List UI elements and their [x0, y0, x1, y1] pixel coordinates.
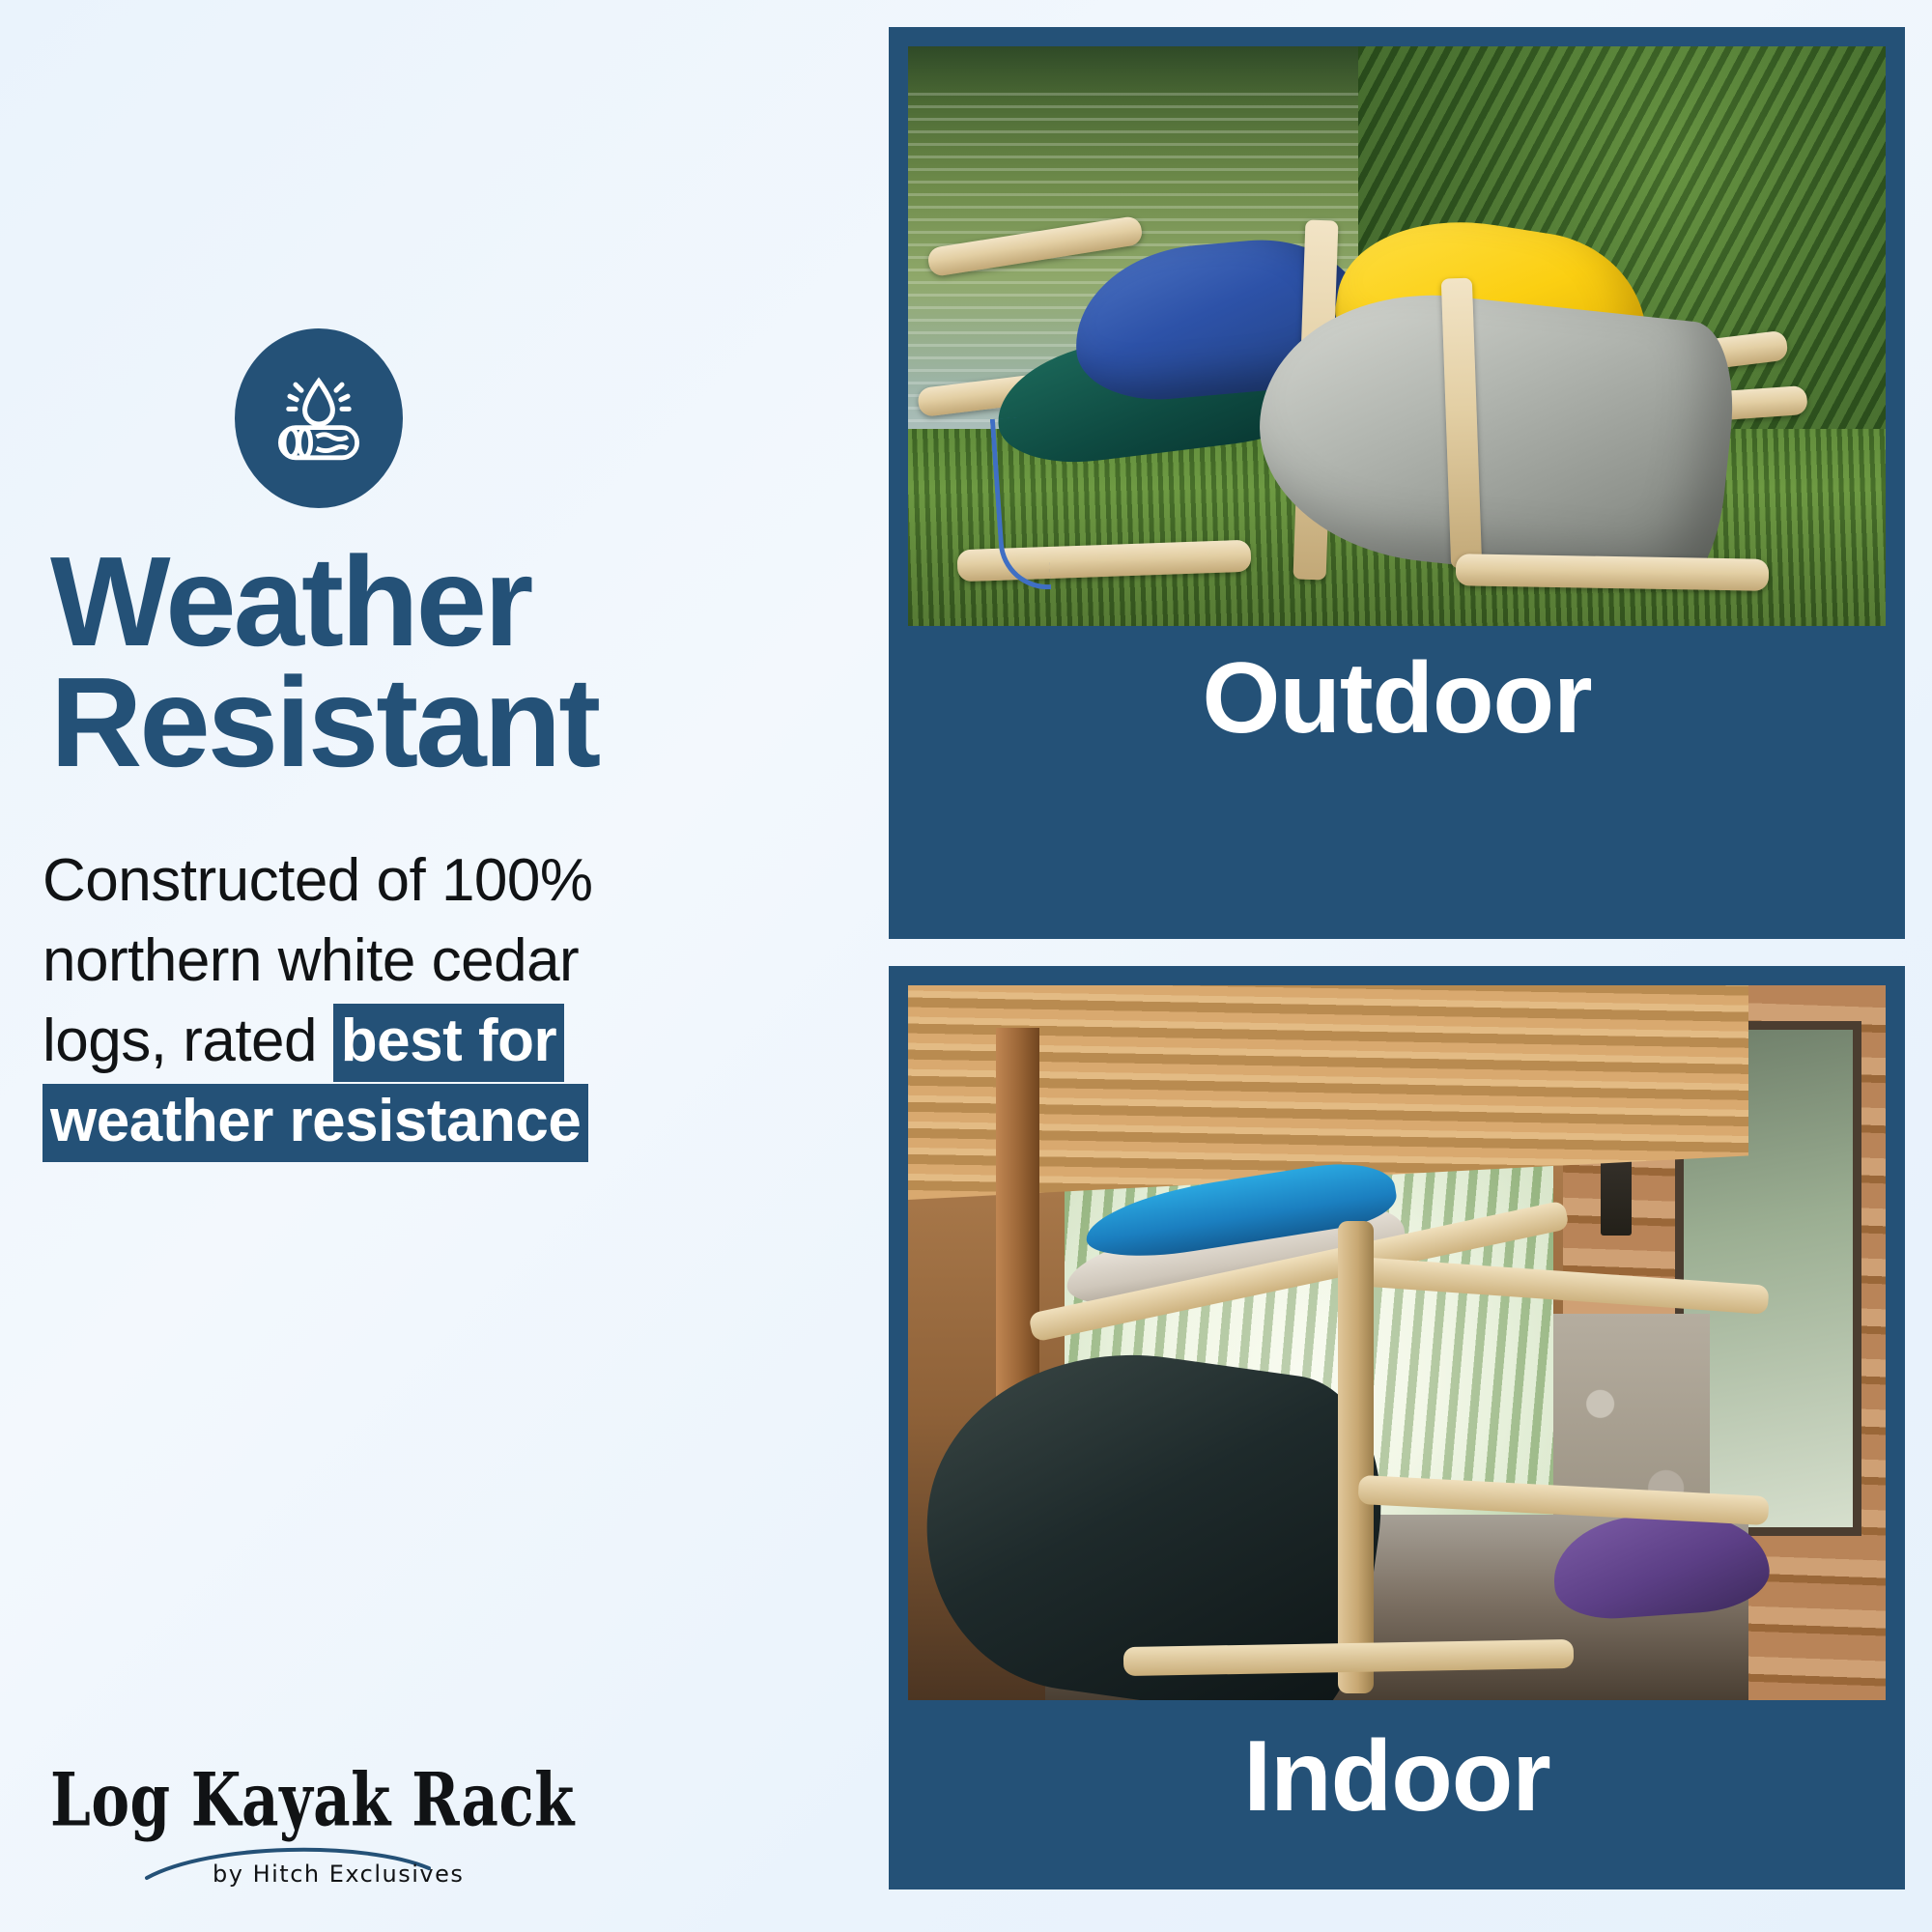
- cedar-log-base-right: [1455, 554, 1768, 591]
- outdoor-scene: [908, 46, 1886, 626]
- body-highlight-1: best for: [333, 1004, 564, 1082]
- body-description: Constructed of 100% northern white cedar…: [43, 840, 719, 1161]
- water-droplet-over-log-icon: [235, 328, 403, 508]
- outdoor-photo: [908, 46, 1886, 626]
- body-highlight-2: weather resistance: [43, 1084, 588, 1162]
- caption-outdoor: Outdoor: [889, 641, 1905, 756]
- cedar-rack-post: [1338, 1221, 1373, 1692]
- brand-logo: Log Kayak Rack by Hitch Exclusives: [50, 1764, 456, 1889]
- logo-wordmark: Log Kayak Rack: [50, 1764, 440, 1837]
- indoor-scene: [908, 985, 1886, 1700]
- page-title: Weather Resistant: [50, 541, 842, 783]
- left-content-column: Weather Resistant Constructed of 100% no…: [0, 0, 869, 1932]
- headline-line-1: Weather: [50, 541, 842, 662]
- gallery-card-outdoor[interactable]: Outdoor: [889, 27, 1905, 939]
- gallery-card-indoor[interactable]: Indoor: [889, 966, 1905, 1889]
- logo-tagline: by Hitch Exclusives: [213, 1861, 464, 1888]
- indoor-photo: [908, 985, 1886, 1700]
- headline-line-2: Resistant: [50, 662, 842, 782]
- caption-indoor: Indoor: [889, 1719, 1905, 1834]
